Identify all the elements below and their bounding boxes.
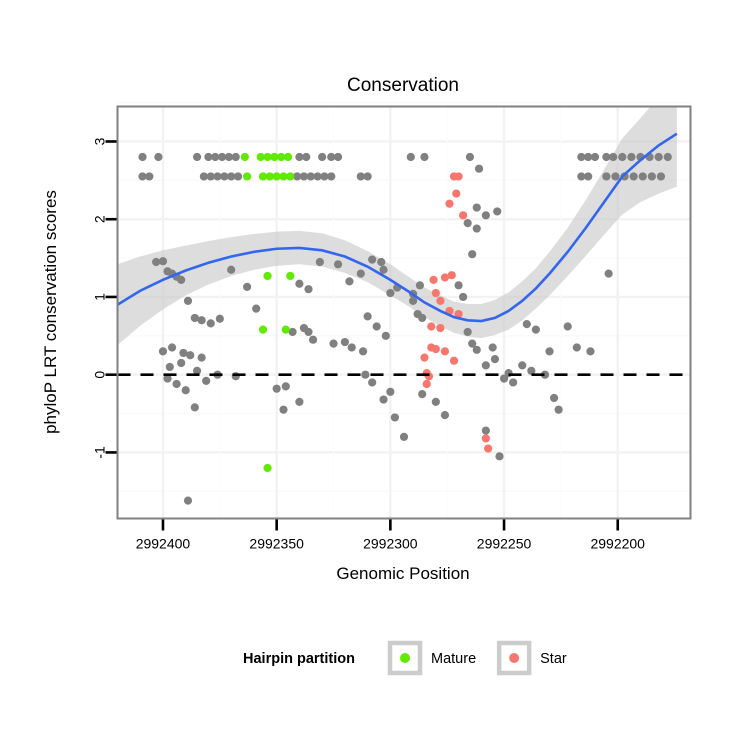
data-point	[448, 271, 456, 279]
data-point	[259, 326, 267, 334]
data-point	[304, 285, 312, 293]
data-point	[454, 281, 462, 289]
data-point	[327, 172, 335, 180]
data-point	[423, 380, 431, 388]
data-point	[473, 346, 481, 354]
data-point	[550, 394, 558, 402]
data-point	[182, 386, 190, 394]
data-point	[495, 452, 503, 460]
data-point	[198, 316, 206, 324]
data-point	[450, 357, 458, 365]
data-point	[491, 355, 499, 363]
chart-canvas: Conservation phyloP LRT conservation sco…	[0, 0, 750, 750]
conservation-scatter-plot: Conservation phyloP LRT conservation sco…	[0, 0, 750, 750]
data-point	[286, 272, 294, 280]
data-point	[177, 276, 185, 284]
data-point	[466, 153, 474, 161]
data-point	[145, 172, 153, 180]
data-point	[436, 297, 444, 305]
data-point	[227, 266, 235, 274]
data-point	[309, 336, 317, 344]
data-point	[186, 351, 194, 359]
data-point	[295, 398, 303, 406]
data-point	[252, 305, 260, 313]
data-point	[345, 277, 353, 285]
data-point	[630, 172, 638, 180]
data-point	[416, 281, 424, 289]
data-point	[657, 172, 665, 180]
data-point	[348, 343, 356, 351]
data-point	[273, 385, 281, 393]
data-point	[357, 270, 365, 278]
data-point	[334, 153, 342, 161]
data-point	[382, 332, 390, 340]
data-point	[302, 153, 310, 161]
data-point	[377, 258, 385, 266]
data-point	[545, 347, 553, 355]
x-tick-label: 2992200	[590, 536, 645, 552]
data-point	[432, 398, 440, 406]
data-point	[429, 276, 437, 284]
data-point	[509, 378, 517, 386]
data-point	[441, 411, 449, 419]
data-point	[282, 382, 290, 390]
data-point	[425, 372, 433, 380]
data-point	[216, 315, 224, 323]
data-point	[452, 189, 460, 197]
data-point	[482, 434, 490, 442]
data-point	[368, 378, 376, 386]
y-tick-label: -1	[92, 446, 108, 459]
data-point	[207, 319, 215, 327]
legend-label: Star	[540, 651, 567, 667]
data-point	[505, 369, 513, 377]
x-axis-title: Genomic Position	[336, 564, 469, 583]
data-point	[459, 211, 467, 219]
data-point	[441, 347, 449, 355]
legend-label: Mature	[431, 651, 476, 667]
data-point	[418, 390, 426, 398]
data-point	[316, 258, 324, 266]
data-point	[286, 172, 294, 180]
x-tick-label: 2992250	[477, 536, 532, 552]
data-point	[493, 207, 501, 215]
data-point	[627, 153, 635, 161]
data-point	[564, 322, 572, 330]
data-point	[482, 211, 490, 219]
data-point	[473, 224, 481, 232]
data-point	[295, 280, 303, 288]
data-point	[154, 153, 162, 161]
data-point	[484, 444, 492, 452]
data-point	[318, 153, 326, 161]
data-point	[166, 363, 174, 371]
data-point	[459, 293, 467, 301]
data-point	[202, 377, 210, 385]
data-point	[198, 353, 206, 361]
data-point	[464, 219, 472, 227]
data-point	[432, 345, 440, 353]
data-point	[602, 172, 610, 180]
y-tick-label: 0	[92, 371, 108, 379]
data-point	[364, 172, 372, 180]
data-point	[555, 406, 563, 414]
data-point	[618, 153, 626, 161]
y-tick-label: 1	[92, 293, 108, 301]
data-point	[532, 326, 540, 334]
data-point	[475, 165, 483, 173]
data-point	[184, 297, 192, 305]
data-point	[518, 361, 526, 369]
y-tick-label: 2	[92, 215, 108, 223]
data-point	[445, 200, 453, 208]
data-point	[489, 343, 497, 351]
data-point	[605, 270, 613, 278]
data-point	[232, 372, 240, 380]
data-point	[279, 406, 287, 414]
data-point	[468, 250, 476, 258]
data-point	[391, 413, 399, 421]
data-point	[184, 497, 192, 505]
data-point	[234, 172, 242, 180]
data-point	[193, 153, 201, 161]
y-axis-title: phyloP LRT conservation scores	[41, 190, 60, 434]
data-point	[473, 203, 481, 211]
data-point	[436, 324, 444, 332]
data-point	[464, 328, 472, 336]
data-point	[359, 347, 367, 355]
data-point	[591, 153, 599, 161]
data-point	[232, 153, 240, 161]
x-tick-label: 2992400	[136, 536, 191, 552]
legend-key-dot	[509, 653, 519, 663]
data-point	[420, 353, 428, 361]
data-point	[243, 283, 251, 291]
data-point	[655, 153, 663, 161]
data-point	[482, 427, 490, 435]
data-point	[609, 153, 617, 161]
data-point	[364, 312, 372, 320]
data-point	[368, 256, 376, 264]
x-tick-label: 2992350	[249, 536, 304, 552]
data-point	[386, 388, 394, 396]
data-point	[138, 153, 146, 161]
data-point	[284, 153, 292, 161]
y-tick-label: 3	[92, 137, 108, 145]
data-point	[407, 153, 415, 161]
data-point	[159, 257, 167, 265]
data-point	[573, 343, 581, 351]
data-point	[173, 380, 181, 388]
data-point	[168, 343, 176, 351]
data-point	[373, 322, 381, 330]
data-point	[263, 464, 271, 472]
data-point	[282, 326, 290, 334]
data-point	[482, 361, 490, 369]
grid-lines	[118, 103, 691, 519]
data-point	[386, 289, 394, 297]
data-point	[454, 172, 462, 180]
data-point	[586, 347, 594, 355]
data-point	[639, 172, 647, 180]
data-point	[177, 359, 185, 367]
data-point	[584, 172, 592, 180]
data-point	[243, 172, 251, 180]
data-point	[523, 320, 531, 328]
data-point	[191, 403, 199, 411]
data-point	[648, 172, 656, 180]
x-tick-label: 2992300	[363, 536, 418, 552]
data-point	[418, 314, 426, 322]
data-point	[304, 328, 312, 336]
legend-title: Hairpin partition	[243, 651, 355, 667]
data-point	[329, 339, 337, 347]
data-point	[400, 433, 408, 441]
data-point	[432, 289, 440, 297]
data-point	[611, 172, 619, 180]
data-point	[159, 347, 167, 355]
data-point	[427, 322, 435, 330]
data-point	[334, 260, 342, 268]
data-point	[241, 153, 249, 161]
data-point	[361, 371, 369, 379]
data-point	[341, 338, 349, 346]
data-point	[263, 272, 271, 280]
legend-key-dot	[400, 653, 410, 663]
page-title: Conservation	[347, 75, 459, 96]
data-point	[379, 266, 387, 274]
data-point	[664, 153, 672, 161]
data-point	[420, 153, 428, 161]
data-point	[379, 395, 387, 403]
